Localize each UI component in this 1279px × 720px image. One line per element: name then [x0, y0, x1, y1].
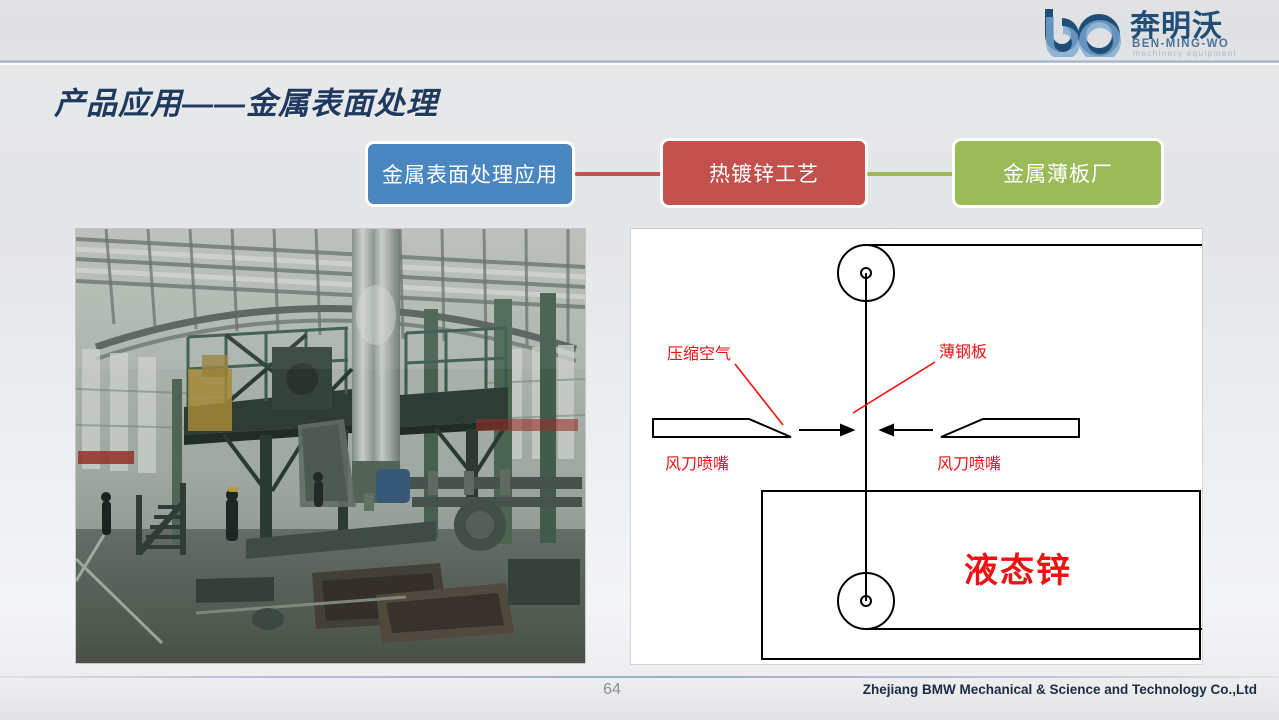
chain-box-hot-dip-galvanizing-process[interactable]: 热镀锌工艺 [660, 138, 868, 208]
label-air-knife-right: 风刀喷嘴 [937, 455, 1001, 473]
label-steel-strip: 薄钢板 [939, 343, 987, 361]
logo-tagline: machinery equipment [1133, 48, 1237, 57]
svg-text:machinery equipment: machinery equipment [1133, 48, 1237, 57]
chain-connector-2 [867, 172, 953, 176]
label-compressed-air: 压缩空气 [667, 345, 731, 363]
chain-connector-1 [575, 172, 661, 176]
slide-title: 产品应用——金属表面处理 [54, 78, 438, 123]
page-number: 64 [597, 681, 627, 699]
company-logo: 奔明沃 BEN-MING-WO machinery equipment [1037, 5, 1265, 57]
label-liquid-zinc: 液态锌 [964, 552, 1072, 590]
label-air-knife-left: 风刀喷嘴 [665, 455, 729, 473]
header-divider-highlight [0, 63, 1279, 65]
air-knife-schematic: 压缩空气 薄钢板 风刀喷嘴 风刀喷嘴 液态锌 [631, 229, 1202, 664]
bo-monogram-icon [1045, 9, 1117, 57]
footer-company-name: Zhejiang BMW Mechanical & Science and Te… [863, 682, 1257, 697]
chain-box-sheet-metal-plant[interactable]: 金属薄板厂 [952, 138, 1164, 208]
chain-box-metal-surface-treatment-application[interactable]: 金属表面处理应用 [365, 141, 575, 207]
factory-photo [76, 229, 585, 663]
slide-canvas: 奔明沃 BEN-MING-WO machinery equipment 产品应用… [0, 0, 1279, 720]
